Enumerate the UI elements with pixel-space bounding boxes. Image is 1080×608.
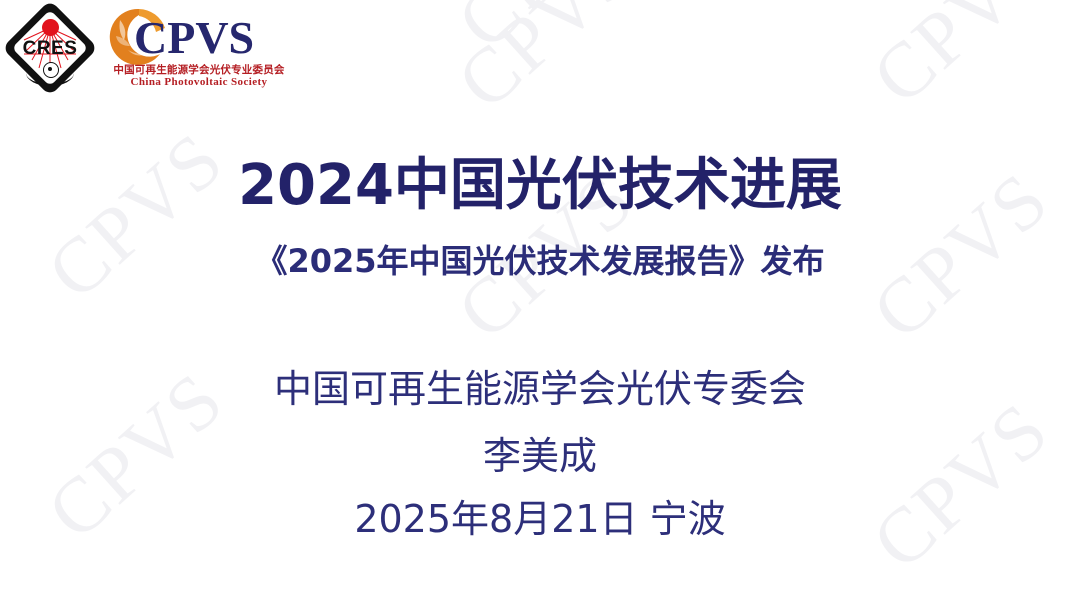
cres-wordmark: CRES <box>4 38 96 60</box>
main-title: 2024中国光伏技术进展 <box>0 155 1080 218</box>
cpvs-chinese-name: 中国可再生能源学会光伏专业委员会 <box>110 62 288 77</box>
presentation-slide: CPVS CPVS CPVS CPVS CPVS CPVS CPVS CPVS … <box>0 0 1080 608</box>
cpvs-logo: CPVS 中国可再生能源学会光伏专业委员会 China Photovoltaic… <box>106 4 288 94</box>
cres-eye-icon <box>43 62 59 78</box>
date-location: 2025年8月21日 宁波 <box>0 497 1080 543</box>
organization-name: 中国可再生能源学会光伏专委会 <box>0 367 1080 413</box>
cpvs-wordmark: CPVS <box>134 15 254 61</box>
cres-logo: CRES <box>4 2 96 94</box>
cres-sun-icon <box>42 19 59 36</box>
logo-bar: CRES CPVS 中国可再生能源学会光伏专业委员会 China Photovo… <box>4 2 288 94</box>
cpvs-english-name: China Photovoltaic Society <box>110 76 288 88</box>
sub-title: 《2025年中国光伏技术发展报告》发布 <box>0 242 1080 280</box>
speaker-name: 李美成 <box>0 434 1080 480</box>
